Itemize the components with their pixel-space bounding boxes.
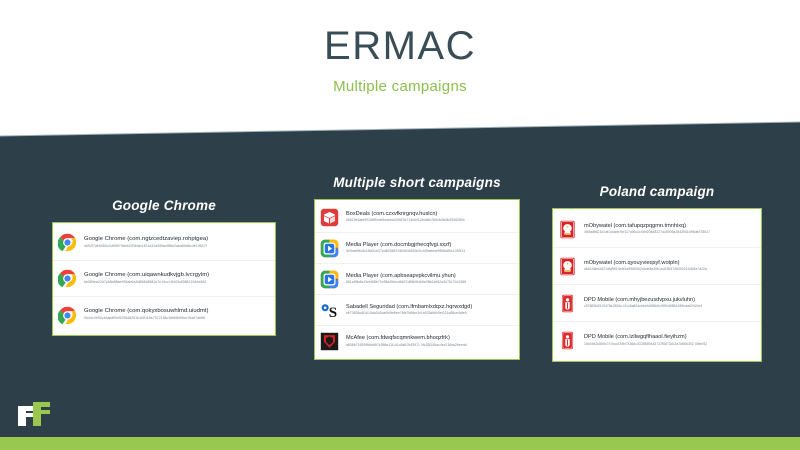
boxdeals-icon bbox=[320, 208, 339, 227]
app-list-item[interactable]: Google Chrome (com.qokyxbosuwhlmd.uiudmt… bbox=[53, 297, 275, 333]
svg-text:S: S bbox=[329, 304, 337, 319]
app-item-text: Media Player (com.apbseapvpkcvilmu.yhun)… bbox=[346, 273, 513, 286]
app-sha256-hash: db6246bd1821dfa9614a9f1a5968362c5de8a30b… bbox=[584, 267, 755, 272]
app-item-text: Google Chrome (com.uiqawnkudkvjgb.lvcrgy… bbox=[84, 272, 269, 285]
app-sha256-hash: c97882b6519478e2836c141c8a804cbbefd0f86f… bbox=[584, 304, 755, 309]
app-item-text: DPD Mobile (com.lzllwgqflhaaol.fieyihzm)… bbox=[584, 334, 755, 347]
app-list-item[interactable]: McAfee (com.fdwqfscqmnkwem.bhoqzfrk)a838… bbox=[315, 326, 519, 357]
chrome-icon bbox=[58, 306, 77, 325]
app-package-name: mObywatel (com.qyouyvieqsyf.wotpln) bbox=[584, 260, 755, 268]
brand-logo bbox=[18, 400, 50, 428]
app-package-name: Google Chrome (com.uiqawnkudkvjgb.lvcrgy… bbox=[84, 272, 269, 280]
app-item-text: Media Player (com.docmbgjrhecqfvgi.xxzf)… bbox=[346, 242, 513, 255]
app-list-item[interactable]: DPD Mobile (com.lzllwgqflhaaol.fieyihzm)… bbox=[553, 322, 761, 359]
app-package-name: Google Chrome (com.ngtzcedtzaviep.rohptg… bbox=[84, 236, 269, 244]
app-list-item[interactable]: mObywatel (com.qyouyvieqsyf.wotpln)db624… bbox=[553, 248, 761, 285]
dpd-icon bbox=[558, 331, 577, 350]
header-band: ERMAC Multiple campaigns bbox=[0, 0, 800, 140]
app-sha256-hash: 6e589ea22d7c68b88be995ab6a3d658d8882e7e1… bbox=[84, 280, 269, 285]
column-title: Poland campaign bbox=[552, 184, 762, 199]
app-list-card: Google Chrome (com.ngtzcedtzaviep.rohptg… bbox=[52, 222, 276, 336]
bottom-accent-bar bbox=[0, 437, 800, 450]
app-sha256-hash: eb73628c6f1619da2b2ba0b9febee7fde7fd8be3… bbox=[346, 311, 513, 316]
app-sha256-hash: a838b715559f6b6f87e368e11f141d5a57b83971… bbox=[346, 343, 513, 348]
app-package-name: DPD Mobile (com.mhyjbezusdvpxu.jukvluhn) bbox=[584, 297, 755, 305]
app-list-item[interactable]: Google Chrome (com.ngtzcedtzaviep.rohptg… bbox=[53, 225, 275, 261]
app-package-name: Sabadell Seguridad (com.lfmbamlxdqxz.hqr… bbox=[346, 304, 513, 312]
app-package-name: Media Player (com.docmbgjrhecqfvgi.xxzf) bbox=[346, 242, 513, 250]
app-package-name: McAfee (com.fdwqfscqmnkwem.bhoqzfrk) bbox=[346, 335, 513, 343]
campaign-column-poland: Poland campaign mObywatel (com.tafupqzpq… bbox=[552, 184, 762, 362]
chrome-icon bbox=[58, 233, 77, 252]
app-list-item[interactable]: Media Player (com.docmbgjrhecqfvgi.xxzf)… bbox=[315, 233, 519, 264]
page-title: ERMAC bbox=[0, 24, 800, 69]
app-sha256-hash: 0b44c4992c48ae8f9cf5295d8281b1f4f116e767… bbox=[84, 316, 269, 321]
app-package-name: mObywatel (com.tafupqzpqgmn.tmnhixq) bbox=[584, 223, 755, 231]
app-item-text: mObywatel (com.tafupqzpqgmn.tmnhixq)4f6f… bbox=[584, 223, 755, 236]
app-list-item[interactable]: SSabadell Seguridad (com.lfmbamlxdqxz.hq… bbox=[315, 295, 519, 326]
app-sha256-hash: 681a95b8a19ef468b71e98a2fbbcd6627d88b9f4… bbox=[346, 280, 513, 285]
app-item-text: McAfee (com.fdwqfscqmnkwem.bhoqzfrk)a838… bbox=[346, 335, 513, 348]
app-item-text: Sabadell Seguridad (com.lfmbamlxdqxz.hqr… bbox=[346, 304, 513, 317]
app-sha256-hash: 5c9cae8b4fc15fa2cb37ed8254821584b3b539c3… bbox=[346, 249, 513, 254]
app-item-text: Google Chrome (com.ngtzcedtzaviep.rohptg… bbox=[84, 236, 269, 249]
column-title: Multiple short campaigns bbox=[314, 175, 520, 190]
app-item-text: BoxDeals (com.czxvfknrgnqv.huslcn)68619e… bbox=[346, 211, 513, 224]
page-subtitle: Multiple campaigns bbox=[0, 78, 800, 95]
chrome-icon bbox=[58, 269, 77, 288]
app-list-item[interactable]: mObywatel (com.tafupqzpqgmn.tmnhixq)4f6f… bbox=[553, 211, 761, 248]
app-sha256-hash: 1800b42c859c747bcc159b75366c33258694d372… bbox=[584, 342, 755, 347]
app-list-item[interactable]: Google Chrome (com.uiqawnkudkvjgb.lvcrgy… bbox=[53, 261, 275, 297]
app-sha256-hash: 68619e3afe50268f5cbe5eaeba439f23e713c641… bbox=[346, 218, 513, 223]
media-player-icon bbox=[320, 270, 339, 289]
dpd-icon bbox=[558, 294, 577, 313]
app-item-text: mObywatel (com.qyouyvieqsyf.wotpln)db624… bbox=[584, 260, 755, 273]
column-title: Google Chrome bbox=[52, 198, 276, 213]
mcafee-icon bbox=[320, 332, 339, 351]
app-list-card: mObywatel (com.tafupqzpqgmn.tmnhixq)4f6f… bbox=[552, 208, 762, 362]
poland-emblem-icon bbox=[558, 220, 577, 239]
app-package-name: Google Chrome (com.qokyxbosuwhlmd.uiudmt… bbox=[84, 308, 269, 316]
app-package-name: DPD Mobile (com.lzllwgqflhaaol.fieyihzm) bbox=[584, 334, 755, 342]
media-player-icon bbox=[320, 239, 339, 258]
app-sha256-hash: 4f6fad8621b2af1c6ade7bf117dc6c3cf3ef20ad… bbox=[584, 230, 755, 235]
app-list-item[interactable]: BoxDeals (com.czxvfknrgnqv.huslcn)68619e… bbox=[315, 202, 519, 233]
sabadell-icon: S bbox=[320, 301, 339, 320]
app-list-item[interactable]: Media Player (com.apbseapvpkcvilmu.yhun)… bbox=[315, 264, 519, 295]
app-item-text: Google Chrome (com.qokyxbosuwhlmd.uiudmt… bbox=[84, 308, 269, 321]
campaign-column-short: Multiple short campaigns BoxDeals (com.c… bbox=[314, 175, 520, 360]
app-package-name: Media Player (com.apbseapvpkcvilmu.yhun) bbox=[346, 273, 513, 281]
slide-root: ERMAC Multiple campaigns Google Chrome G… bbox=[0, 0, 800, 450]
app-sha256-hash: d692f7db5980c3d99879db61f29bab1491d42a95… bbox=[84, 244, 269, 249]
app-list-card: BoxDeals (com.czxvfknrgnqv.huslcn)68619e… bbox=[314, 199, 520, 360]
app-package-name: BoxDeals (com.czxvfknrgnqv.huslcn) bbox=[346, 211, 513, 219]
app-item-text: DPD Mobile (com.mhyjbezusdvpxu.jukvluhn)… bbox=[584, 297, 755, 310]
app-list-item[interactable]: DPD Mobile (com.mhyjbezusdvpxu.jukvluhn)… bbox=[553, 285, 761, 322]
poland-emblem-icon bbox=[558, 257, 577, 276]
campaign-column-chrome: Google Chrome Google Chrome (com.ngtzced… bbox=[52, 198, 276, 336]
